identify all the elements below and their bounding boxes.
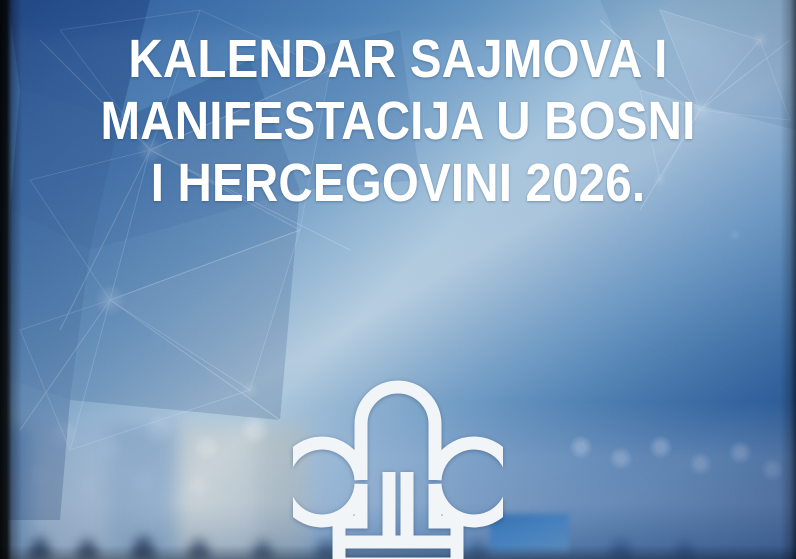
poster-title: KALENDAR SAJMOVA IMANIFESTACIJA U BOSNII… <box>48 28 748 214</box>
poster-title-line-2: MANIFESTACIJA U BOSNI <box>48 90 748 152</box>
poster-title-line-3: I HERCEGOVINI 2026. <box>48 152 748 214</box>
poster-canvas: KALENDAR SAJMOVA IMANIFESTACIJA U BOSNII… <box>0 0 796 559</box>
poster-title-line-1: KALENDAR SAJMOVA I <box>48 28 748 90</box>
sarajevo-fair-arches-logo <box>293 352 503 559</box>
